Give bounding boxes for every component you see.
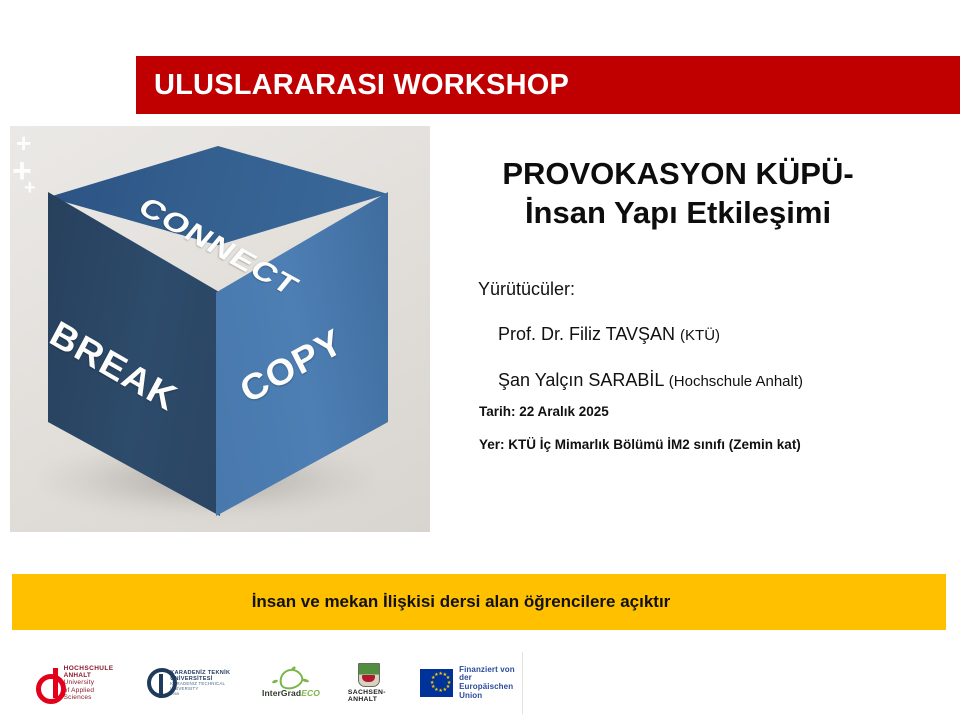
- ktu-line-2: KARADENIZ TECHNICAL UNIVERSITY: [170, 682, 234, 692]
- partner-logo-strip: HOCHSCHULE ANHALT University of Applied …: [10, 652, 523, 714]
- eu-star-icon: ★: [431, 685, 435, 690]
- ktu-emblem-icon: [147, 668, 165, 698]
- event-date: Tarih: 22 Aralık 2025: [479, 404, 609, 419]
- decorative-plus-icon: +: [24, 178, 36, 198]
- intergrad-name: InterGrad: [262, 688, 301, 698]
- audience-notice-banner: İnsan ve mekan İlişkisi dersi alan öğren…: [12, 574, 946, 630]
- provocation-cube-image: + + + CONNECT BREAK COPY: [10, 126, 430, 532]
- sachsen-anhalt-crest-icon: [358, 663, 380, 687]
- eu-line-1: Finanziert von der: [459, 666, 522, 683]
- intergrad-leaf-icon: [271, 668, 311, 688]
- intergrad-wordmark: InterGradECO: [262, 688, 320, 698]
- anhalt-line-2-bold: ANHALT: [64, 672, 91, 679]
- logo-hochschule-anhalt: HOCHSCHULE ANHALT University of Applied …: [34, 652, 117, 714]
- ktu-line-3: 1955: [170, 692, 234, 696]
- eu-star-icon: ★: [443, 688, 447, 693]
- coordinator-name: Şan Yalçın SARABİL: [498, 370, 664, 390]
- intergrad-spark: [272, 679, 279, 684]
- intergrad-spark: [302, 678, 310, 683]
- workshop-header-banner: ULUSLARARASI WORKSHOP: [136, 56, 960, 114]
- logo-karadeniz-teknik-universitesi: KARADENİZ TEKNİK ÜNİVERSİTESİ KARADENIZ …: [147, 652, 234, 714]
- hochschule-anhalt-wordmark: HOCHSCHULE ANHALT University of Applied …: [64, 665, 117, 700]
- anhalt-line-1: HOCHSCHULE: [64, 665, 117, 672]
- logo-sachsen-anhalt: SACHSEN-ANHALT: [348, 652, 390, 714]
- coordinator-name: Prof. Dr. Filiz TAVŞAN: [498, 324, 675, 344]
- coordinator-entry: Şan Yalçın SARABİL (Hochschule Anhalt): [498, 370, 803, 391]
- cube-3d: CONNECT BREAK COPY: [48, 146, 388, 516]
- audience-notice-text: İnsan ve mekan İlişkisi dersi alan öğren…: [252, 592, 671, 612]
- logo-intergrad-eco: InterGradECO: [262, 652, 320, 714]
- workshop-header-title: ULUSLARARASI WORKSHOP: [136, 69, 569, 102]
- poster-title: PROVOKASYON KÜPÜ- İnsan Yapı Etkileşimi: [444, 154, 912, 232]
- event-location: Yer: KTÜ İç Mimarlık Bölümü İM2 sınıfı (…: [479, 437, 801, 452]
- hochschule-anhalt-a-mark-icon: [34, 668, 59, 698]
- coordinator-affiliation: (KTÜ): [680, 327, 720, 344]
- eu-star-icon: ★: [434, 673, 438, 678]
- coordinator-entry: Prof. Dr. Filiz TAVŞAN (KTÜ): [498, 324, 720, 345]
- coordinators-label: Yürütücüler:: [478, 279, 575, 300]
- intergrad-eco-suffix: ECO: [301, 688, 320, 698]
- eu-star-icon: ★: [438, 689, 442, 694]
- anhalt-line-3: of Applied Sciences: [64, 687, 117, 701]
- anhalt-line-2-rest: University: [64, 679, 95, 686]
- poster-title-line-2: İnsan Yapı Etkileşimi: [444, 193, 912, 232]
- ktu-wordmark: KARADENİZ TEKNİK ÜNİVERSİTESİ KARADENIZ …: [170, 670, 234, 696]
- poster-title-line-1: PROVOKASYON KÜPÜ-: [444, 154, 912, 193]
- anhalt-line-2: ANHALT University: [64, 672, 117, 686]
- eu-flag-icon: ★★★★★★★★★★★★: [420, 669, 453, 697]
- eu-line-2: Europäischen Union: [459, 683, 522, 700]
- eu-funding-wordmark: Finanziert von der Europäischen Union: [459, 666, 522, 701]
- eu-star-icon: ★: [430, 681, 434, 686]
- logo-european-union: ★★★★★★★★★★★★ Finanziert von der Europäis…: [420, 652, 522, 714]
- coordinator-affiliation: (Hochschule Anhalt): [669, 373, 803, 390]
- sachsen-anhalt-wordmark: SACHSEN-ANHALT: [348, 689, 390, 703]
